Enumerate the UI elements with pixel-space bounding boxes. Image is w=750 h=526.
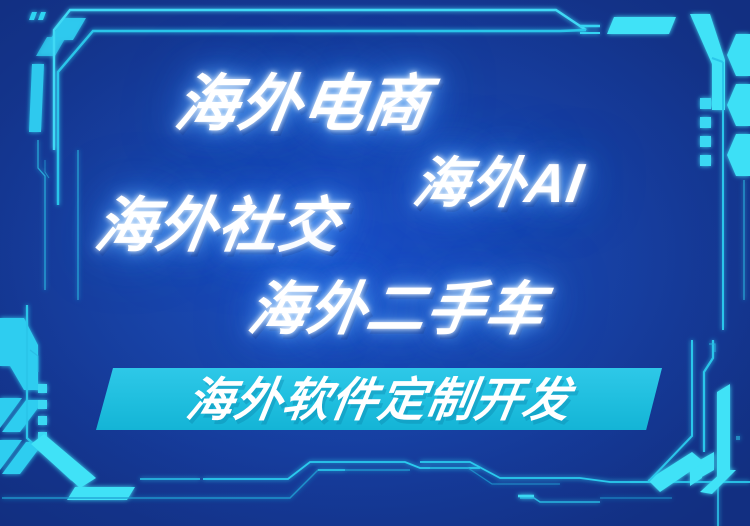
left-edge-square-dots — [38, 384, 47, 441]
headline-overseas-ai: 海外AI — [410, 156, 588, 211]
right-edge-square-dots — [700, 98, 711, 166]
top-edge-rails — [248, 10, 676, 34]
headline-overseas-used-car: 海外二手车 — [244, 281, 549, 339]
bottom-edge-circuit-lines — [2, 462, 750, 502]
poster-canvas: 海外电商 海外AI 海外社交 海外二手车 海外软件定制开发 — [0, 0, 750, 526]
headline-overseas-ecommerce: 海外电商 — [171, 74, 434, 136]
banner-label: 海外软件定制开发 — [91, 368, 667, 430]
software-dev-banner: 海外软件定制开发 — [96, 368, 662, 430]
top-right-corner-icon — [690, 14, 750, 330]
headline-overseas-social: 海外社交 — [91, 196, 345, 256]
left-edge-corner-icon — [0, 318, 44, 474]
